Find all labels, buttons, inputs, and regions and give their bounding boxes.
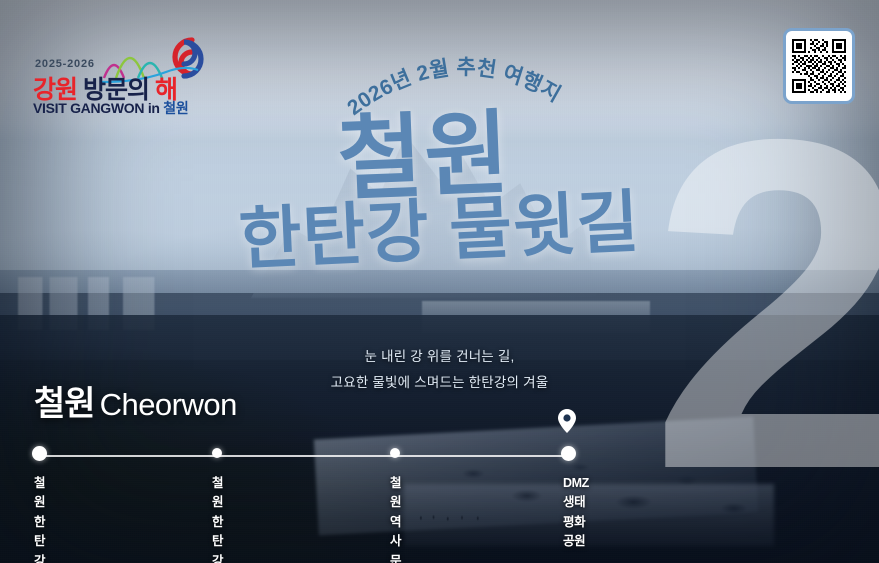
qr-code-icon xyxy=(790,35,848,97)
timeline-label: 철원한탄강 주상절리길 xyxy=(34,474,45,563)
poster-canvas: 2 2025-2026 강원 방문의 해 VISIT GANGWON in 철원 xyxy=(0,0,879,563)
timeline-dot[interactable] xyxy=(561,446,576,461)
subtitle-line1: 눈 내린 강 위를 건너는 길, xyxy=(0,344,879,370)
logo-year-range: 2025-2026 xyxy=(35,58,95,70)
visit-gangwon-logo[interactable]: 2025-2026 강원 방문의 해 VISIT GANGWON in 철원 xyxy=(30,32,205,110)
map-pin-icon xyxy=(557,408,577,439)
timeline-dot[interactable] xyxy=(32,446,47,461)
timeline-dot[interactable] xyxy=(212,448,222,458)
main-title: 철원 한탄강 물윗길 xyxy=(0,112,879,268)
place-name: 철원Cheorwon xyxy=(34,376,237,425)
timeline-label: DMZ 생태평화공원 xyxy=(563,474,589,552)
timeline-track xyxy=(34,455,568,457)
qr-code[interactable] xyxy=(783,28,855,104)
place-name-korean: 철원 xyxy=(34,385,95,423)
timeline-dot[interactable] xyxy=(390,448,400,458)
timeline-label: 철원역사문화공원& 소이산 모노레일& 태봉국 궁예왕 역사공원 xyxy=(390,474,401,563)
place-name-english: Cheorwon xyxy=(100,387,237,422)
itinerary-timeline: 철원한탄강 주상절리길철원한탄강 은하수교& 횃불전망대철원역사문화공원& 소이… xyxy=(0,430,620,550)
timeline-label: 철원한탄강 은하수교& 횃불전망대 xyxy=(212,474,223,563)
